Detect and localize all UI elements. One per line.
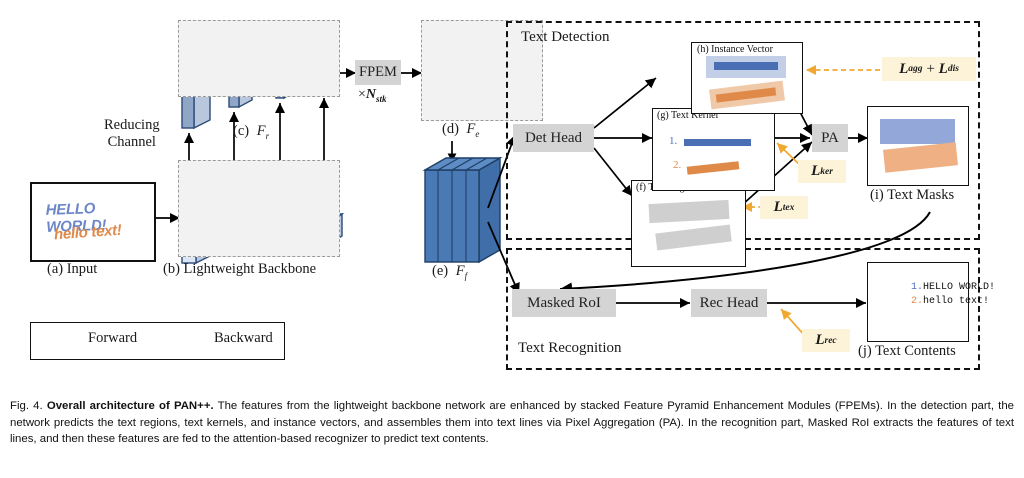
reduced-feature-caption: (c) Fr	[233, 124, 269, 141]
loss-dis-base: L	[939, 61, 948, 78]
loss-ker: Lker	[798, 160, 846, 183]
text-masks-label: Text Masks	[887, 187, 954, 203]
text-region-mask-1	[649, 200, 730, 223]
fpem-repeat-label: ×Nstk	[358, 88, 387, 104]
backbone-caption-id: (b)	[163, 261, 180, 277]
loss-dis-sub: dis	[948, 64, 959, 74]
fpem-box[interactable]: FPEM	[355, 60, 401, 85]
input-caption-id: (a)	[47, 261, 63, 277]
text-detection-section-label: Text Detection	[521, 30, 610, 46]
loss-rec: Lrec	[802, 329, 850, 352]
fpem-label: FPEM	[359, 64, 397, 81]
enhanced-feature-sub: e	[475, 129, 479, 139]
panel-text-masks	[867, 106, 969, 186]
loss-rec-base: L	[815, 332, 824, 349]
reducing-channel-line2: Channel	[104, 135, 160, 150]
loss-tex: Ltex	[760, 196, 808, 219]
pa-box[interactable]: PA	[812, 124, 848, 152]
fpem-repeat-prefix: ×	[358, 87, 366, 102]
text-contents-label: Text Contents	[875, 343, 956, 359]
input-caption-label: Input	[67, 261, 98, 277]
enhanced-feature-id: (d)	[442, 121, 459, 137]
text-region-id: (f)	[636, 182, 646, 193]
panel-text-region	[631, 180, 746, 267]
text-kernel-num-1: 1.	[669, 135, 677, 147]
loss-plus-sign: +	[926, 61, 936, 78]
group-backbone	[178, 160, 340, 257]
masked-roi-box[interactable]: Masked RoI	[512, 289, 616, 317]
fused-feature-id: (e)	[432, 263, 448, 279]
text-contents-num-2: 2.	[911, 296, 923, 307]
text-mask-orange	[883, 142, 958, 173]
text-recognition-section-label: Text Recognition	[518, 341, 622, 357]
panel-instance-vector-title: (h) Instance Vector	[697, 44, 773, 55]
figure-title: Overall architecture of PAN++.	[47, 400, 214, 412]
reduced-feature-base: F	[257, 123, 266, 139]
text-kernel-bar-2	[687, 161, 740, 174]
input-image: HELLO WORLD! hello text!	[30, 182, 156, 262]
backbone-caption: (b) Lightweight Backbone	[163, 262, 316, 277]
rec-head-box[interactable]: Rec Head	[691, 289, 767, 317]
loss-ker-sub: ker	[820, 167, 833, 177]
fused-feature-caption: (e) Ff	[432, 264, 467, 281]
text-kernel-bar-1	[684, 139, 751, 146]
loss-rec-sub: rec	[825, 336, 837, 346]
instance-vector-bar-1	[714, 62, 778, 70]
text-region-mask-2	[655, 224, 732, 250]
reducing-channel-line1: Reducing	[104, 118, 160, 133]
input-text-line2: hello text!	[53, 222, 122, 244]
text-kernel-num-2: 2.	[673, 159, 681, 171]
fused-feature-block	[425, 158, 500, 262]
instance-vector-id: (h)	[697, 44, 709, 55]
pa-label: PA	[821, 130, 839, 147]
loss-agg-sub: agg	[908, 64, 922, 74]
reducing-channel-label: Reducing Channel	[104, 118, 160, 150]
text-contents-id: (j)	[858, 343, 872, 359]
figure-root: HELLO WORLD! hello text! (a) Input (b) L…	[0, 0, 1024, 478]
fpem-repeat-sub: stk	[376, 94, 387, 104]
text-contents-line-2: 2.hello text!	[875, 285, 989, 318]
det-head-box[interactable]: Det Head	[513, 124, 594, 152]
text-contents-text-2: hello text!	[923, 296, 989, 307]
input-caption: (a) Input	[47, 262, 97, 277]
loss-ker-base: L	[811, 163, 820, 180]
enhanced-feature-caption: (d) Fe	[442, 122, 479, 139]
det-head-label: Det Head	[525, 130, 582, 147]
legend-forward-label: Forward	[88, 331, 137, 346]
fpem-repeat-base: N	[366, 87, 376, 102]
fused-feature-sub: f	[465, 271, 468, 281]
fused-feature-base: F	[456, 263, 465, 279]
loss-agg-dis: Lagg + Ldis	[882, 57, 976, 81]
panel-text-contents: 1.HELLO WORLD! 2.hello text!	[867, 262, 969, 342]
reduced-feature-id: (c)	[233, 123, 249, 139]
legend-backward-label: Backward	[214, 331, 273, 346]
figure-number: Fig. 4.	[10, 400, 43, 412]
text-kernel-id: (g)	[657, 110, 669, 121]
reduced-feature-sub: r	[266, 131, 270, 141]
group-reduced-features	[178, 20, 340, 97]
masked-roi-label: Masked RoI	[527, 295, 601, 312]
text-mask-blue	[880, 119, 955, 144]
panel-text-contents-caption: (j) Text Contents	[858, 344, 956, 359]
loss-agg-base: L	[899, 61, 908, 78]
rec-head-label: Rec Head	[700, 295, 759, 312]
figure-caption: Fig. 4. Overall architecture of PAN++. T…	[10, 398, 1014, 448]
panel-text-masks-caption: (i) Text Masks	[870, 188, 954, 203]
loss-tex-sub: tex	[783, 203, 795, 213]
instance-vector-label: Instance Vector	[711, 44, 773, 55]
text-masks-id: (i)	[870, 187, 884, 203]
backbone-caption-label: Lightweight Backbone	[184, 261, 316, 277]
loss-tex-base: L	[774, 199, 783, 216]
